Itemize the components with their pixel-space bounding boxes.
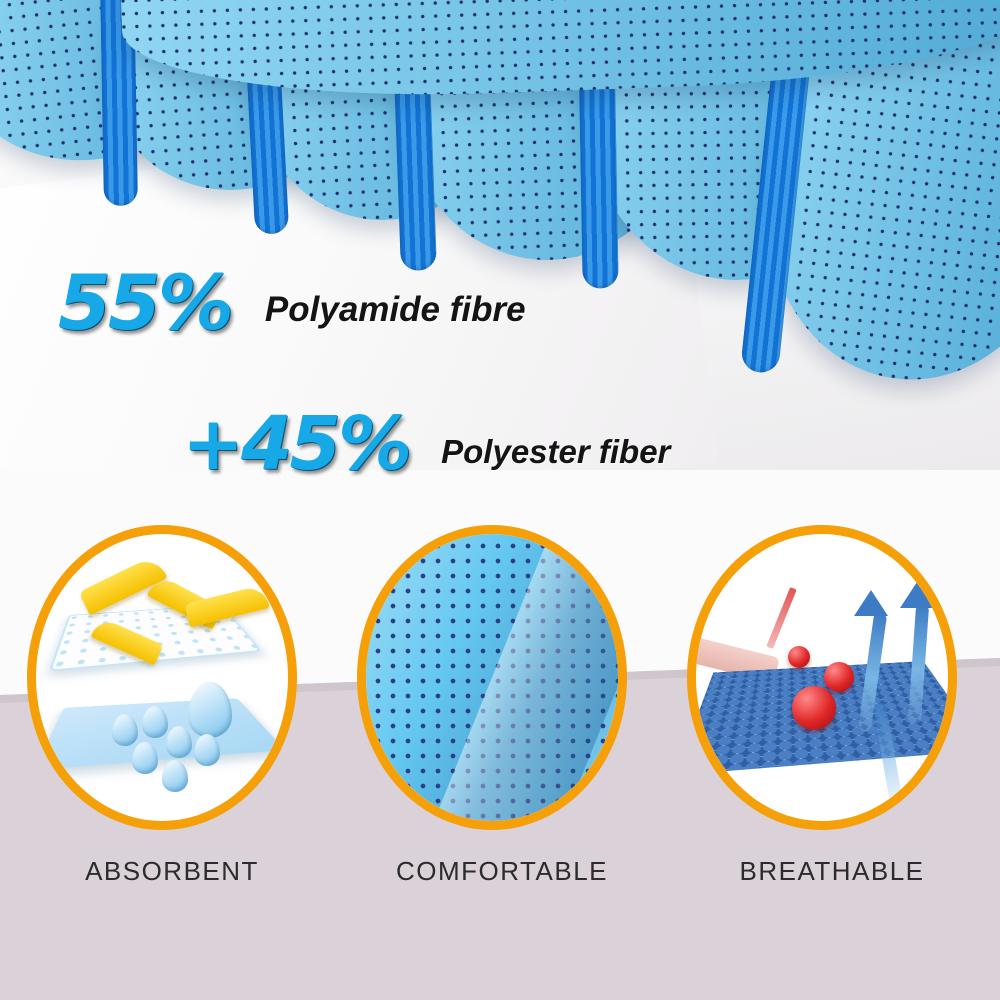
feature-disc bbox=[357, 525, 627, 830]
water-drop-icon bbox=[188, 682, 232, 738]
airflow-arrow-icon bbox=[900, 582, 934, 608]
claim-polyester: +45% Polyester fiber bbox=[182, 410, 670, 478]
feature-disc bbox=[27, 525, 297, 830]
hero-product-photo bbox=[0, 0, 1000, 470]
claim-polyamide: 55% Polyamide fibre bbox=[58, 268, 526, 338]
water-drop-icon bbox=[112, 714, 138, 746]
product-infographic: 55% Polyamide fibre +45% Polyester fiber bbox=[0, 0, 1000, 1000]
feature-disc bbox=[687, 525, 957, 830]
claim-percent: +45% bbox=[182, 410, 409, 478]
moisture-bead-icon bbox=[792, 686, 836, 730]
water-drop-icon bbox=[132, 742, 158, 774]
feature-comfortable[interactable]: COMFORTABLE bbox=[357, 525, 647, 887]
feature-label: COMFORTABLE bbox=[357, 856, 647, 887]
airflow-arrow-icon bbox=[854, 590, 888, 616]
claim-percent: 55% bbox=[58, 268, 231, 338]
airflow-arrows-mesh-beads-icon bbox=[696, 534, 948, 821]
feature-breathable[interactable]: BREATHABLE bbox=[687, 525, 977, 887]
claim-material-label: Polyester fiber bbox=[441, 433, 670, 471]
feature-label: BREATHABLE bbox=[687, 856, 977, 887]
water-drop-icon bbox=[142, 706, 168, 738]
moisture-bead-icon bbox=[824, 662, 854, 692]
mesh-fabric-macro-photo-icon bbox=[366, 534, 618, 821]
absorbent-sheet-water-drops-icon bbox=[36, 534, 288, 821]
water-drop-icon bbox=[194, 734, 220, 766]
claim-material-label: Polyamide fibre bbox=[265, 290, 526, 330]
heat-needle-icon bbox=[766, 587, 796, 649]
feature-absorbent[interactable]: ABSORBENT bbox=[27, 525, 317, 887]
feature-label: ABSORBENT bbox=[27, 856, 317, 887]
water-drop-icon bbox=[162, 760, 188, 792]
folded-towels-group bbox=[0, 0, 1000, 470]
moisture-bead-icon bbox=[788, 646, 810, 668]
water-drop-icon bbox=[166, 726, 192, 758]
